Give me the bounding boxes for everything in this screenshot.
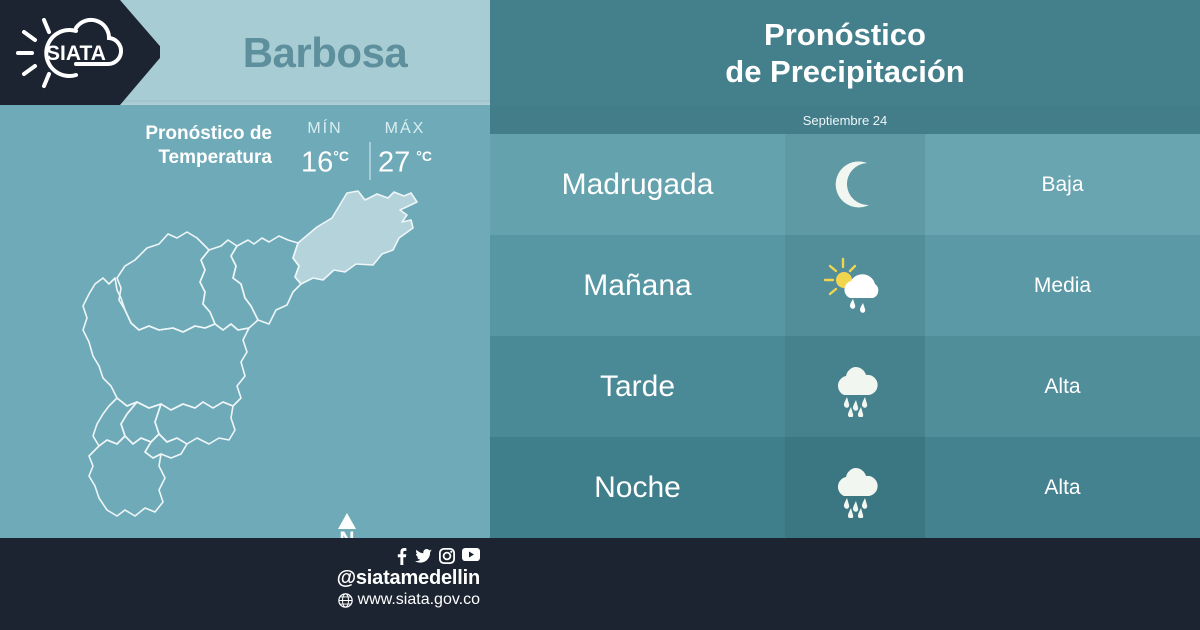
map-region-barbosa xyxy=(293,191,417,284)
forecast-icon-cell xyxy=(785,336,925,437)
north-arrow-icon xyxy=(338,513,356,529)
max-value-wrap: 27°C xyxy=(365,139,445,180)
twitter-icon[interactable] xyxy=(415,548,432,565)
website-line[interactable]: www.siata.gov.co xyxy=(300,590,480,610)
max-value: 27 xyxy=(378,147,410,179)
map-region-envigado xyxy=(155,402,235,444)
forecast-row[interactable]: Madrugada Baja xyxy=(490,134,1200,235)
forecast-rows: Madrugada Baja Mañana xyxy=(490,134,1200,538)
cloud-heavy-rain-icon xyxy=(822,357,888,417)
precipitation-title: Pronóstico de Precipitación xyxy=(725,16,964,90)
forecast-row[interactable]: Noche Alta xyxy=(490,437,1200,538)
website-url: www.siata.gov.co xyxy=(358,590,480,610)
forecast-date: Septiembre 24 xyxy=(803,113,888,128)
right-panel: Pronóstico de Precipitación Septiembre 2… xyxy=(490,0,1200,538)
moon-icon xyxy=(822,155,888,215)
map-region-medellin xyxy=(83,278,249,410)
map-svg xyxy=(55,180,455,538)
forecast-period: Madrugada xyxy=(490,134,785,235)
min-temperature: MÍN 16°C xyxy=(285,120,365,180)
map-region-caldas xyxy=(89,436,165,516)
min-value: 16 xyxy=(301,147,333,179)
forecast-row[interactable]: Tarde Alta xyxy=(490,336,1200,437)
forecast-date-bar: Septiembre 24 xyxy=(490,106,1200,134)
forecast-level: Alta xyxy=(925,437,1200,538)
forecast-period: Tarde xyxy=(490,336,785,437)
forecast-level: Baja xyxy=(925,134,1200,235)
forecast-icon-cell xyxy=(785,235,925,336)
globe-icon xyxy=(338,593,353,608)
map-region-sabaneta xyxy=(145,434,187,458)
youtube-icon[interactable] xyxy=(462,548,480,561)
min-label: MÍN xyxy=(285,120,365,138)
precipitation-title-line2: de Precipitación xyxy=(725,54,964,89)
map-region-girardota xyxy=(231,236,301,324)
left-panel: SIATA Barbosa Pronóstico de Temperatura … xyxy=(0,0,490,538)
forecast-row[interactable]: Mañana xyxy=(490,235,1200,336)
precipitation-header: Pronóstico de Precipitación xyxy=(490,0,1200,106)
aburra-valley-map: N xyxy=(55,180,455,538)
forecast-level: Media xyxy=(925,235,1200,336)
forecast-level: Alta xyxy=(925,336,1200,437)
min-max-group: MÍN 16°C MÁX 27°C xyxy=(285,120,455,180)
infographic-canvas: SIATA Barbosa Pronóstico de Temperatura … xyxy=(0,0,1200,630)
social-icons xyxy=(300,548,480,565)
map-region-bello xyxy=(117,232,215,332)
cloud-heavy-rain-icon xyxy=(822,458,888,518)
map-region-la-estrella xyxy=(93,398,137,446)
map-region-copacabana xyxy=(200,240,258,330)
sun-cloud-rain-icon xyxy=(822,256,888,316)
city-name: Barbosa xyxy=(160,0,490,105)
instagram-icon[interactable] xyxy=(439,548,455,564)
facebook-icon[interactable] xyxy=(395,548,408,565)
temperature-title-line1: Pronóstico de xyxy=(145,123,272,144)
sun-cloud-icon: SIATA xyxy=(14,14,132,92)
social-handle[interactable]: @siatamedellin xyxy=(300,567,480,590)
min-value-wrap: 16°C xyxy=(285,139,365,180)
min-unit: °C xyxy=(333,148,349,164)
max-label: MÁX xyxy=(365,120,445,138)
forecast-period: Mañana xyxy=(490,235,785,336)
social-block: @siatamedellin www.siata.gov.co xyxy=(300,548,480,610)
forecast-icon-cell xyxy=(785,437,925,538)
max-unit: °C xyxy=(416,148,432,164)
temperature-title: Pronóstico de Temperatura xyxy=(62,122,272,170)
forecast-period: Noche xyxy=(490,437,785,538)
precipitation-title-line1: Pronóstico xyxy=(764,17,926,52)
siata-logo-text: SIATA xyxy=(46,42,106,65)
footer: @siatamedellin www.siata.gov.co Con el a… xyxy=(0,538,1200,630)
forecast-icon-cell xyxy=(785,134,925,235)
temperature-title-line2: Temperatura xyxy=(158,147,272,168)
max-temperature: MÁX 27°C xyxy=(365,120,445,180)
